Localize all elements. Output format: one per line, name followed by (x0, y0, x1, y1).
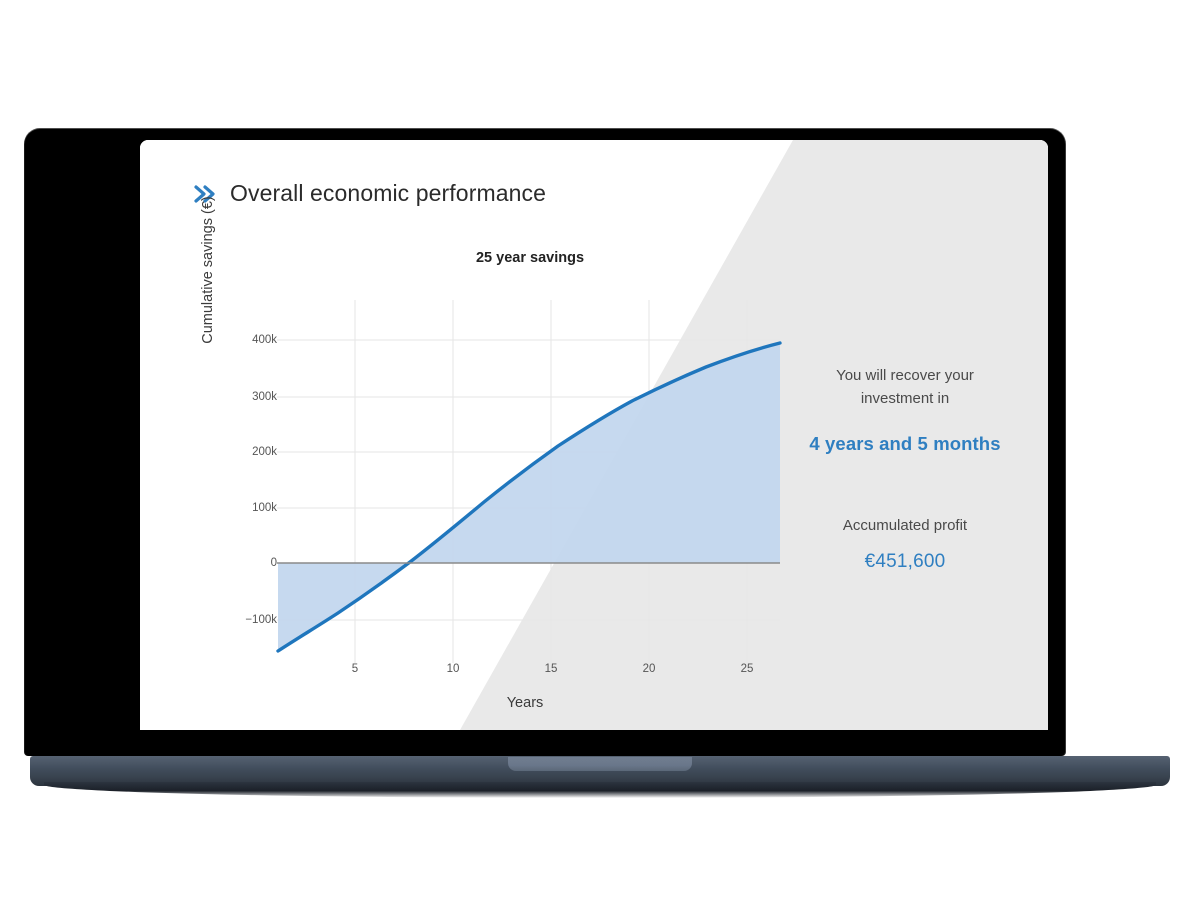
y-tick-label: 300k (217, 391, 277, 403)
chart-x-axis-label: Years (435, 695, 615, 711)
x-tick-label: 5 (352, 663, 358, 675)
x-tick-label: 20 (643, 663, 656, 675)
payback-lead-line1: You will recover your (836, 367, 974, 384)
accumulated-profit-label: Accumulated profit (780, 517, 1030, 534)
laptop-base-shadow (44, 782, 1156, 798)
payback-lead-text: You will recover your investment in (780, 365, 1030, 411)
laptop-base-notch (508, 757, 692, 771)
chart-area-fill (278, 343, 780, 651)
x-tick-label: 15 (545, 663, 558, 675)
laptop-mockup: Overall economic performance 25 year sav… (0, 0, 1200, 922)
screenshot-stage: Overall economic performance 25 year sav… (0, 0, 1200, 922)
payback-period-value: 4 years and 5 months (780, 433, 1030, 455)
laptop-screen: Overall economic performance 25 year sav… (140, 140, 1048, 730)
y-tick-label: 200k (217, 446, 277, 458)
chart-x-ticks: 5 10 15 20 25 (140, 663, 1048, 683)
x-tick-label: 25 (741, 663, 754, 675)
y-tick-label: 0 (217, 557, 277, 569)
y-tick-label: 100k (217, 502, 277, 514)
slide-canvas: Overall economic performance 25 year sav… (140, 140, 1048, 730)
accumulated-profit-value: €451,600 (780, 551, 1030, 573)
chart-y-ticks: 400k 300k 200k 100k 0 −100k (217, 140, 277, 730)
y-tick-label: 400k (217, 334, 277, 346)
x-tick-label: 10 (447, 663, 460, 675)
payback-lead-line2: investment in (861, 390, 949, 407)
summary-panel: You will recover your investment in 4 ye… (780, 365, 1030, 573)
y-tick-label: −100k (217, 614, 277, 626)
